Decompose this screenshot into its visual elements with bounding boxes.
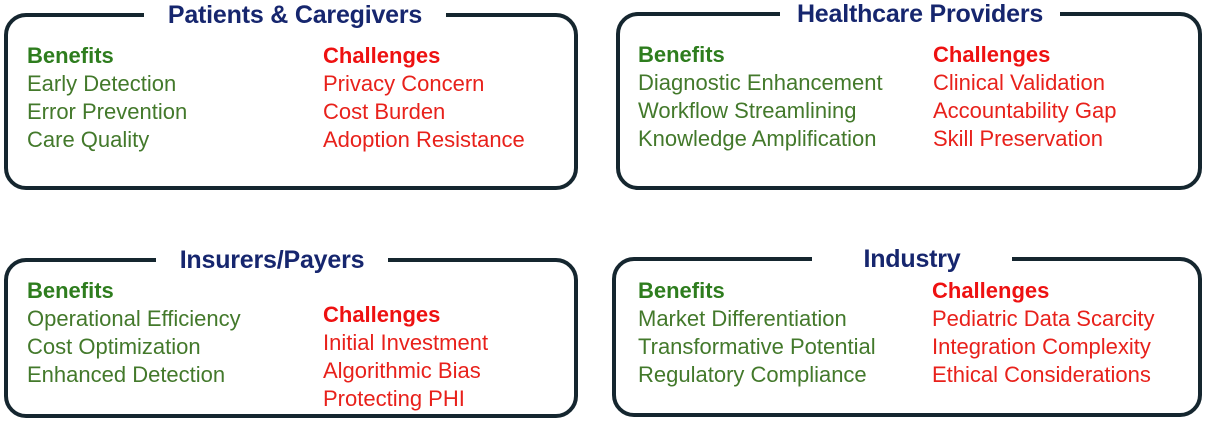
challenges-item: Algorithmic Bias [323,357,488,385]
challenges-column: Challenges Clinical Validation Accountab… [933,44,1116,153]
panel-body: Benefits Early Detection Error Preventio… [8,17,574,186]
challenges-column: Challenges Privacy Concern Cost Burden A… [323,45,525,154]
panel-patients-caregivers: Patients & Caregivers Benefits Early Det… [4,13,578,190]
benefits-item: Cost Optimization [27,333,241,361]
benefits-item: Workflow Streamlining [638,97,883,125]
challenges-item: Privacy Concern [323,70,525,98]
panel-industry: Industry Benefits Market Differentiation… [612,257,1202,417]
challenges-column: Challenges Pediatric Data Scarcity Integ… [932,280,1155,389]
panel-healthcare-providers: Healthcare Providers Benefits Diagnostic… [616,12,1202,190]
challenges-item: Pediatric Data Scarcity [932,305,1155,333]
benefits-item: Error Prevention [27,98,187,126]
benefits-heading: Benefits [638,280,876,303]
benefits-item: Knowledge Amplification [638,125,883,153]
benefits-column: Benefits Early Detection Error Preventio… [27,45,187,154]
benefits-heading: Benefits [27,45,187,68]
benefits-column: Benefits Market Differentiation Transfor… [638,280,876,389]
challenges-item: Adoption Resistance [323,126,525,154]
challenges-item: Ethical Considerations [932,361,1155,389]
benefits-heading: Benefits [638,44,883,67]
benefits-item: Regulatory Compliance [638,361,876,389]
challenges-item: Skill Preservation [933,125,1116,153]
challenges-heading: Challenges [323,304,488,327]
challenges-item: Cost Burden [323,98,525,126]
challenges-heading: Challenges [323,45,525,68]
panel-insurers-payers: Insurers/Payers Benefits Operational Eff… [4,258,578,418]
benefits-item: Enhanced Detection [27,361,241,389]
challenges-item: Integration Complexity [932,333,1155,361]
benefits-item: Care Quality [27,126,187,154]
challenges-item: Clinical Validation [933,69,1116,97]
challenges-item: Accountability Gap [933,97,1116,125]
panel-body: Benefits Market Differentiation Transfor… [616,261,1198,413]
benefits-column: Benefits Diagnostic Enhancement Workflow… [638,44,883,153]
benefits-column: Benefits Operational Efficiency Cost Opt… [27,280,241,389]
challenges-item: Initial Investment [323,329,488,357]
benefits-item: Early Detection [27,70,187,98]
stakeholder-benefits-challenges-figure: { "colors": { "border": "#15262f", "titl… [0,0,1208,424]
challenges-heading: Challenges [933,44,1116,67]
benefits-item: Market Differentiation [638,305,876,333]
challenges-heading: Challenges [932,280,1155,303]
panel-body: Benefits Operational Efficiency Cost Opt… [8,262,574,414]
panel-body: Benefits Diagnostic Enhancement Workflow… [620,16,1198,186]
benefits-item: Operational Efficiency [27,305,241,333]
challenges-item: Protecting PHI [323,385,488,413]
benefits-item: Diagnostic Enhancement [638,69,883,97]
benefits-heading: Benefits [27,280,241,303]
challenges-column: Challenges Initial Investment Algorithmi… [323,304,488,413]
benefits-item: Transformative Potential [638,333,876,361]
